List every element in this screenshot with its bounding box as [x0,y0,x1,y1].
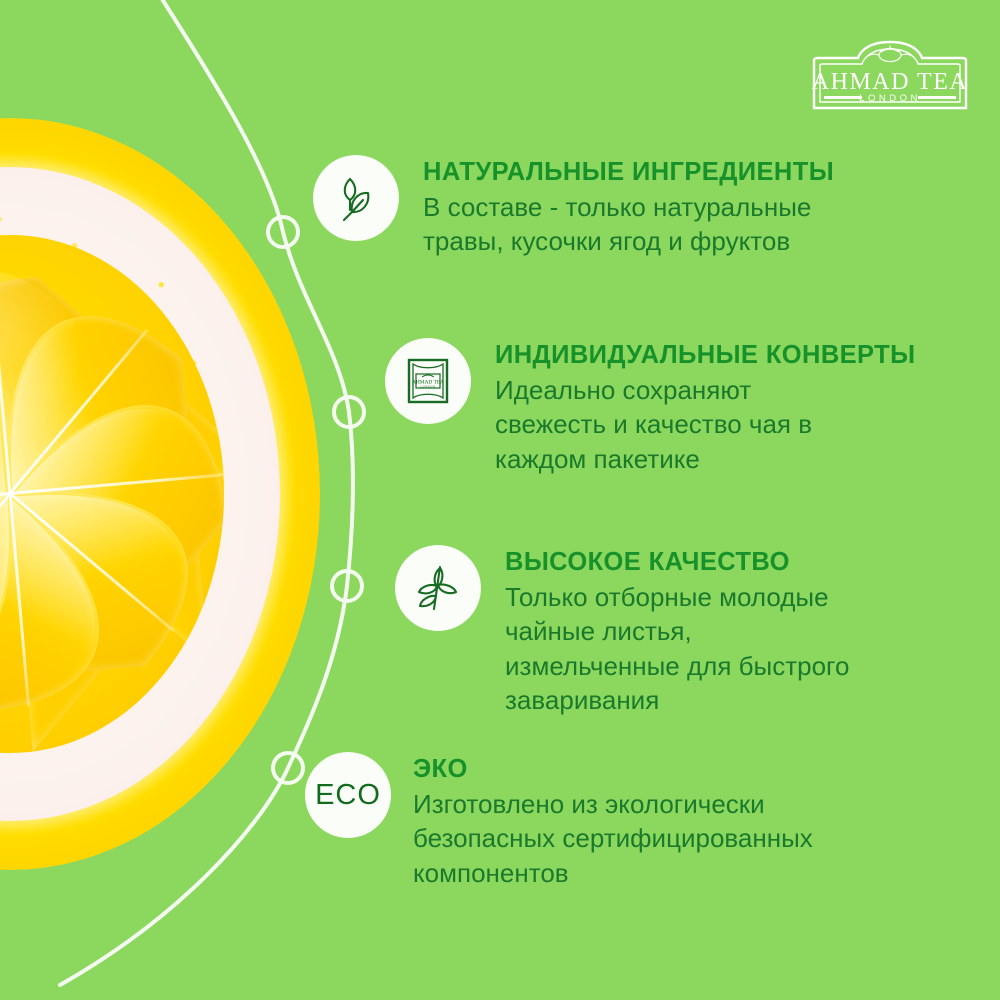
feature-body-line: травы, кусочки ягод и фруктов [423,224,834,258]
feature-body: Идеально сохраняют свежесть и качество ч… [495,373,915,476]
connector-node-2 [334,397,364,427]
feature-title: ВЫСОКОЕ КАЧЕСТВО [505,547,849,577]
feature-badge: ECO [305,752,391,838]
logo-teapot-crest [868,46,912,62]
feature-badge [313,155,399,241]
feature-text-block: ЭКО Изготовлено из экологически безопасн… [413,752,813,890]
two-leaves-icon [330,172,382,224]
feature-body-line: чайные листья, [505,614,849,648]
feature-body-line: заваривания [505,683,849,717]
feature-body-line: Только отборные молодые [505,580,849,614]
connector-node-4 [273,753,303,783]
feature-item-individual-envelopes: AHMAD TEA LONDON ИНДИВИДУАЛЬНЫЕ КОНВЕРТЫ… [385,338,915,476]
feature-badge: AHMAD TEA LONDON [385,338,471,424]
feature-body-line: свежесть и качество чая в [495,407,915,441]
feature-body: Только отборные молодые чайные листья, и… [505,580,849,717]
logo-wordmark: AHMAD TEA [812,69,968,95]
feature-body: Изготовлено из экологически безопасных с… [413,787,813,890]
ahmad-tea-logo[interactable]: AHMAD TEA LONDON [810,30,970,112]
feature-body-line: В составе - только натуральные [423,190,834,224]
feature-text-block: ИНДИВИДУАЛЬНЫЕ КОНВЕРТЫ Идеально сохраня… [495,338,915,476]
feature-body-line: безопасных сертифицированных [413,821,813,855]
poster-canvas: AHMAD TEA LONDON НАТУРАЛЬНЫЕ ИНГРЕДИЕНТЫ… [0,0,1000,1000]
feature-body-line: Изготовлено из экологически [413,787,813,821]
feature-body-line: компонентов [413,856,813,890]
feature-body-line: измельченные для быстрого [505,649,849,683]
feature-body: В составе - только натуральные травы, ку… [423,190,834,259]
feature-body-line: Идеально сохраняют [495,373,915,407]
feature-badge [395,545,481,631]
feature-item-high-quality: ВЫСОКОЕ КАЧЕСТВО Только отборные молодые… [395,545,849,717]
tea-sprig-icon [412,562,464,614]
feature-title: ИНДИВИДУАЛЬНЫЕ КОНВЕРТЫ [495,340,915,370]
connector-node-1 [268,217,298,247]
feature-item-eco: ECO ЭКО Изготовлено из экологически безо… [305,752,813,890]
sachet-logo-sub: LONDON [420,384,435,388]
tea-sachet-icon: AHMAD TEA LONDON [402,355,454,407]
feature-text-block: ВЫСОКОЕ КАЧЕСТВО Только отборные молодые… [505,545,849,717]
feature-title: НАТУРАЛЬНЫЕ ИНГРЕДИЕНТЫ [423,157,834,187]
connector-node-3 [332,571,362,601]
lemon-slice-image [0,118,320,870]
feature-text-block: НАТУРАЛЬНЫЕ ИНГРЕДИЕНТЫ В составе - толь… [423,155,834,259]
feature-body-line: каждом пакетике [495,442,915,476]
eco-text-icon: ECO [315,779,381,812]
logo-sub-wordmark: LONDON [859,93,921,104]
feature-title: ЭКО [413,754,813,784]
feature-item-natural-ingredients: НАТУРАЛЬНЫЕ ИНГРЕДИЕНТЫ В составе - толь… [313,155,834,259]
